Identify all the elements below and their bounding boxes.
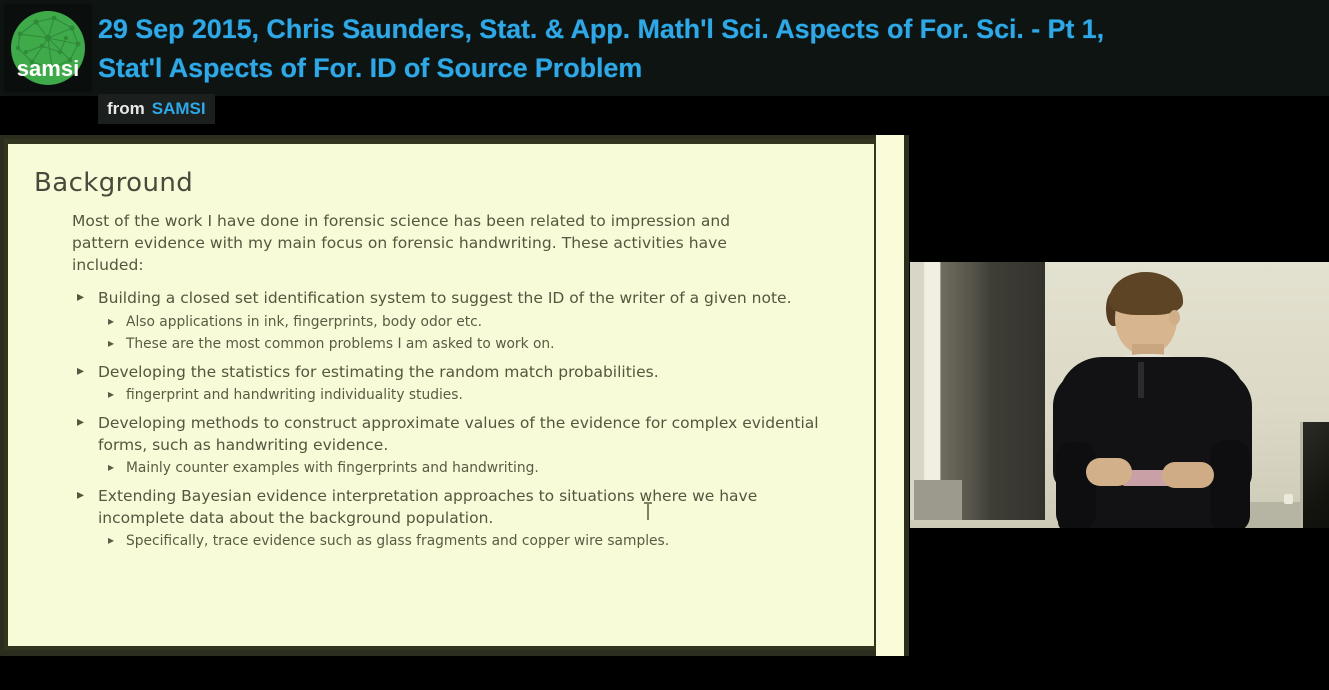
speaker-video-feed[interactable]: [910, 254, 1329, 537]
source-link-samsi[interactable]: SAMSI: [152, 99, 206, 119]
list-item: fingerprint and handwriting individualit…: [98, 385, 816, 405]
video-letterbox-top: [910, 254, 1329, 262]
slide-body: Most of the work I have done in forensic…: [72, 210, 862, 551]
source-attribution-badge[interactable]: from SAMSI: [98, 94, 215, 124]
speaker-polo-placket: [1138, 362, 1144, 398]
from-label: from: [107, 99, 145, 119]
slide-panel[interactable]: Background Most of the work I have done …: [0, 135, 909, 656]
page-title-line-1: 29 Sep 2015, Chris Saunders, Stat. & App…: [98, 10, 1298, 49]
slide-intro-paragraph: Most of the work I have done in forensic…: [72, 210, 772, 276]
bullet-text: Extending Bayesian evidence interpretati…: [98, 486, 828, 529]
sub-bullet-list: Specifically, trace evidence such as gla…: [98, 531, 828, 551]
bullet-text: Building a closed set identification sys…: [98, 288, 828, 310]
text-cursor-artifact: [647, 504, 649, 520]
list-item: These are the most common problems I am …: [98, 334, 816, 354]
speaker-arm-right: [1210, 440, 1250, 528]
speaker-arm-left: [1056, 442, 1096, 528]
bullet-text: Developing the statistics for estimating…: [98, 362, 828, 384]
video-letterbox-bottom: [910, 528, 1329, 537]
whiteboard-edge: [914, 480, 962, 520]
samsi-logo[interactable]: samsi: [4, 4, 92, 92]
cup-object: [1284, 494, 1293, 504]
list-item: Also applications in ink, fingerprints, …: [98, 312, 816, 332]
samsi-logo-wordmark: samsi: [17, 56, 79, 81]
samsi-network-logo-icon: samsi: [8, 8, 88, 88]
sub-bullet-list: Also applications in ink, fingerprints, …: [98, 312, 828, 354]
slide-heading: Background: [34, 168, 193, 198]
list-item: Specifically, trace evidence such as gla…: [98, 531, 816, 551]
list-item: Mainly counter examples with fingerprint…: [98, 458, 816, 478]
list-item: Developing methods to construct approxim…: [72, 413, 828, 478]
video-header-bar: samsi 29 Sep 2015, Chris Saunders, Stat.…: [0, 0, 1329, 96]
speaker-ear: [1169, 310, 1180, 325]
bullet-text: Developing methods to construct approxim…: [98, 413, 828, 456]
speaker-hand-right: [1162, 462, 1214, 488]
lecture-player-page: samsi 29 Sep 2015, Chris Saunders, Stat.…: [0, 0, 1329, 690]
sub-bullet-list: fingerprint and handwriting individualit…: [98, 385, 828, 405]
sub-bullet-list: Mainly counter examples with fingerprint…: [98, 458, 828, 478]
page-title-line-2: Stat'l Aspects of For. ID of Source Prob…: [98, 49, 1298, 88]
page-title[interactable]: 29 Sep 2015, Chris Saunders, Stat. & App…: [98, 10, 1298, 88]
slide-content: Background Most of the work I have done …: [8, 144, 874, 646]
monitor-object: [1300, 422, 1329, 528]
speaker-hand-left: [1086, 458, 1132, 486]
list-item: Building a closed set identification sys…: [72, 288, 828, 354]
list-item: Developing the statistics for estimating…: [72, 362, 828, 406]
list-item: Extending Bayesian evidence interpretati…: [72, 486, 828, 551]
slide-right-margin: [876, 135, 904, 656]
slide-bullet-list: Building a closed set identification sys…: [72, 288, 862, 551]
video-frame: [910, 262, 1329, 528]
